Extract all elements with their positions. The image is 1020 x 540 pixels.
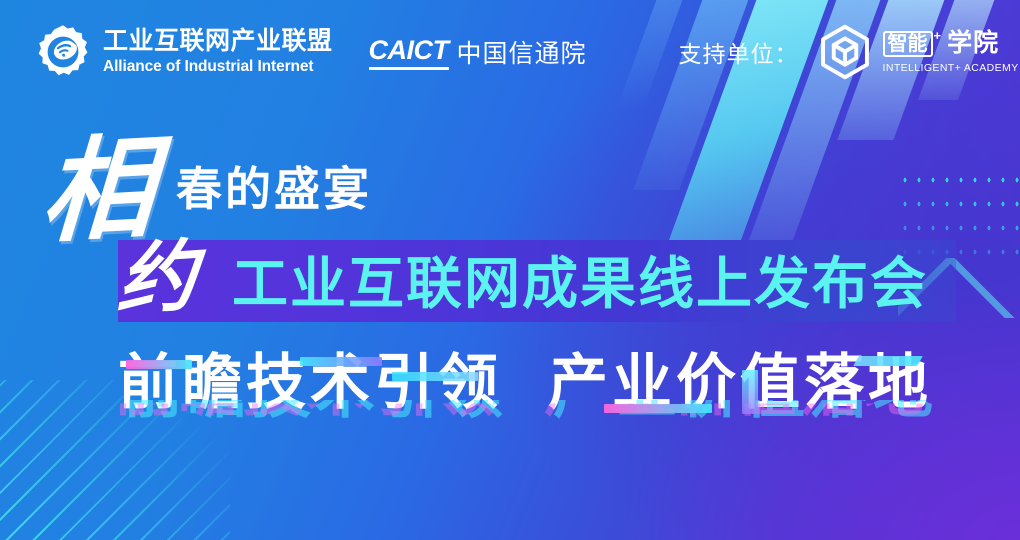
alliance-name-en: Alliance of Industrial Internet (103, 59, 333, 75)
academy-plus-sign: + (934, 29, 942, 42)
caict-mark: CAICT (369, 35, 449, 70)
alliance-logo: 工业互联网产业联盟 Alliance of Industrial Interne… (34, 23, 333, 81)
cube-outline-icon (815, 22, 875, 82)
hero-sub-title: 春的盛宴 (176, 166, 372, 212)
caict-logo: CAICT 中国信通院 (369, 34, 587, 70)
academy-boxed-cn: 智能 (883, 31, 933, 57)
tagline-right: 产业价值落地 (548, 348, 932, 417)
alliance-name-cn: 工业互联网产业联盟 (103, 29, 333, 54)
academy-suffix-cn: 学院 (947, 31, 999, 56)
gear-wifi-icon (34, 23, 92, 81)
hero-tagline: 前瞻技术引领 产业价值落地 (118, 348, 938, 417)
brush-char-xiang: 相 (39, 133, 157, 251)
alliance-logo-text: 工业互联网产业联盟 Alliance of Industrial Interne… (103, 29, 333, 75)
academy-name-cn-row: 智能 + 学院 (883, 31, 1019, 57)
support-unit-label: 支持单位： (679, 35, 799, 69)
academy-logo-text: 智能 + 学院 INTELLIGENT+ ACADEMY (883, 31, 1019, 74)
hero-main-title: 工业互联网成果线上发布会 (232, 251, 928, 317)
brush-char-yue: 约 (115, 237, 199, 320)
tagline-left: 前瞻技术引领 (118, 348, 502, 417)
event-banner: 工业互联网产业联盟 Alliance of Industrial Interne… (0, 0, 1020, 540)
banner-header: 工业互联网产业联盟 Alliance of Industrial Interne… (0, 0, 1020, 104)
support-unit-group: 支持单位： 智能 + 学院 (679, 22, 1019, 82)
caict-name-cn: 中国信通院 (457, 34, 587, 70)
academy-name-en: INTELLIGENT+ ACADEMY (883, 63, 1019, 74)
